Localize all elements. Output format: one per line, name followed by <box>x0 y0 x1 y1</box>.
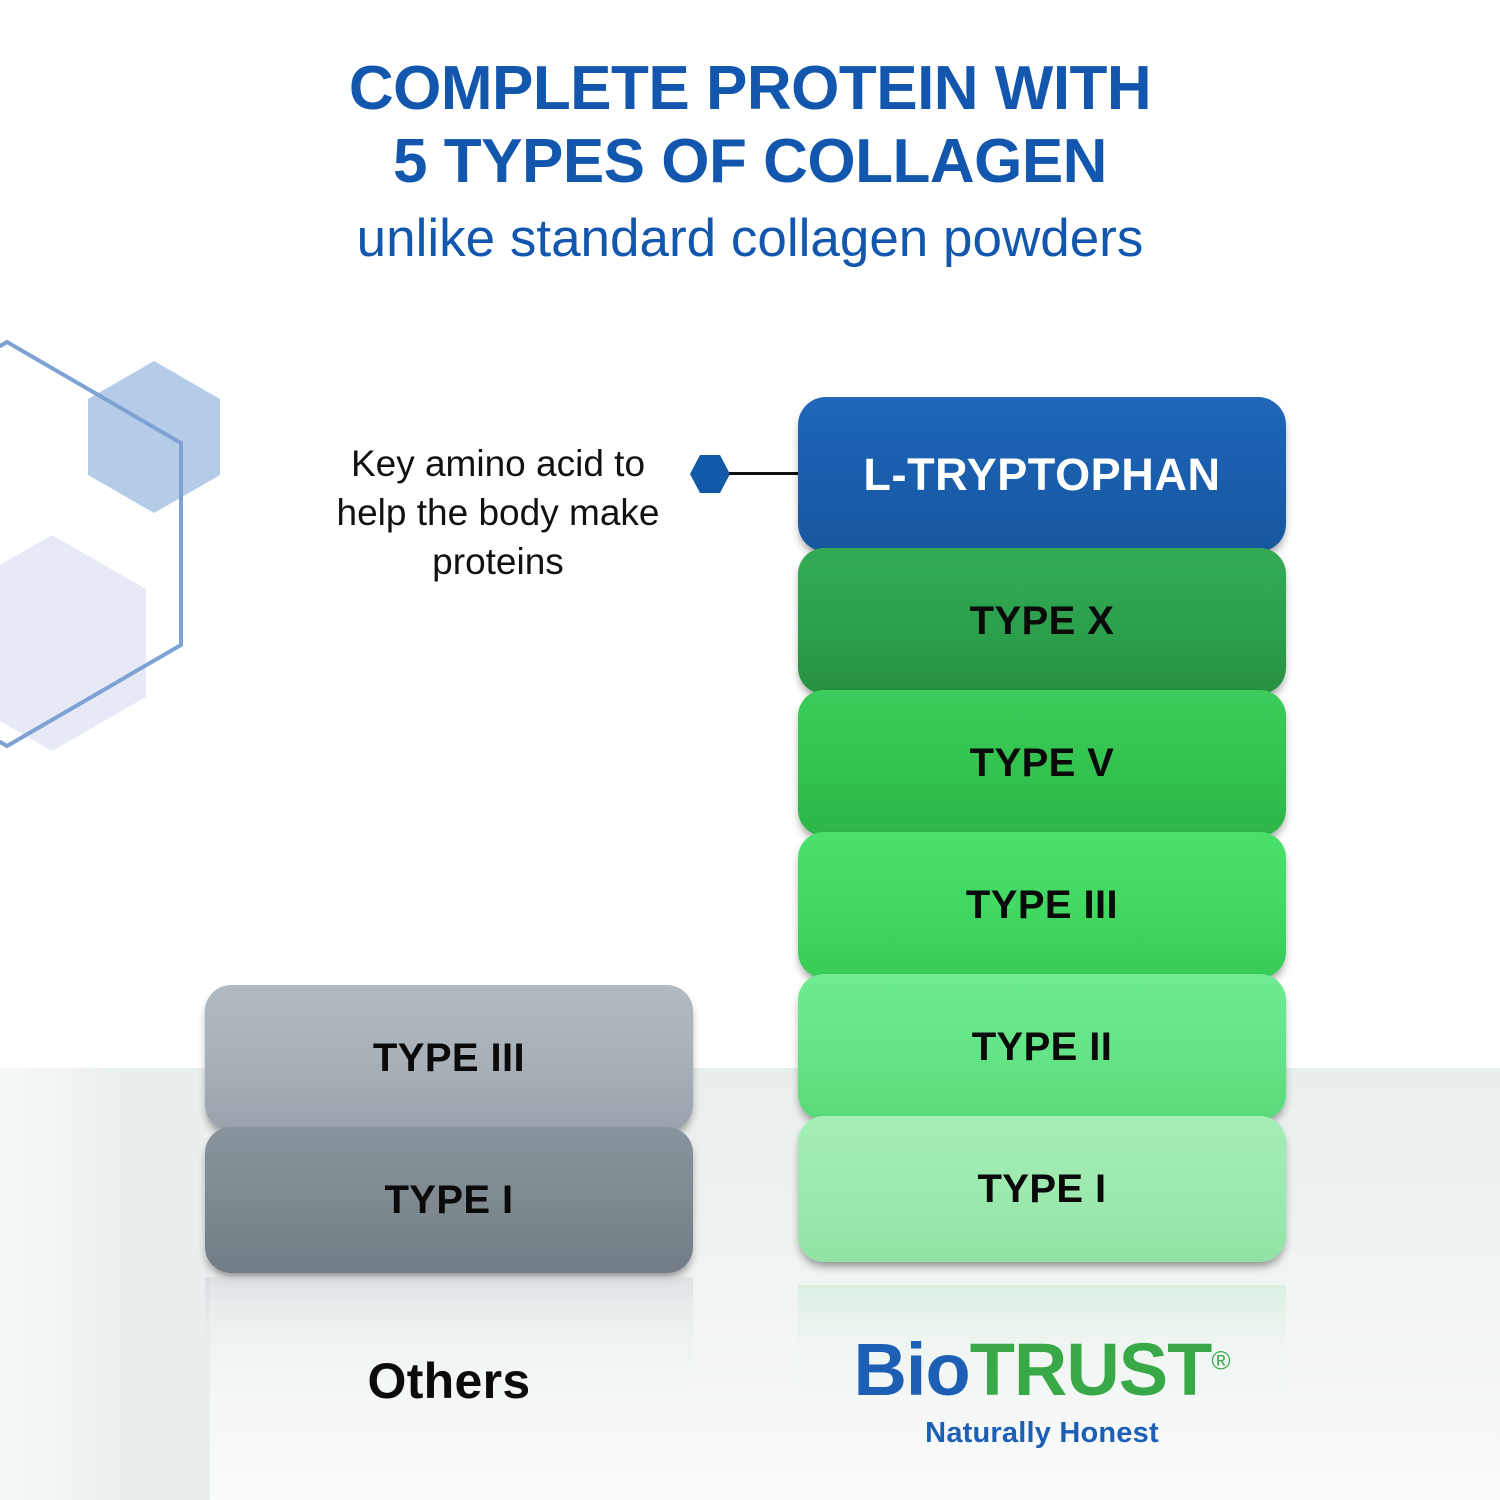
bar-label: L-TRYPTOPHAN <box>863 452 1220 497</box>
bar-label: TYPE V <box>970 743 1115 783</box>
bar-type-v[interactable]: TYPE V <box>798 690 1286 836</box>
page-title: COMPLETE PROTEIN WITH 5 TYPES OF COLLAGE… <box>0 52 1500 269</box>
bar-label: TYPE X <box>970 601 1115 641</box>
hexagon-medium-fill <box>88 361 220 513</box>
bar-label: TYPE III <box>373 1038 525 1078</box>
callout-text: Key amino acid to help the body make pro… <box>318 440 678 586</box>
logo-trust-text: TRUST <box>970 1328 1212 1411</box>
bar-label: TYPE I <box>977 1169 1106 1209</box>
bar-type-ii[interactable]: TYPE II <box>798 974 1286 1120</box>
bar-label: TYPE II <box>972 1027 1113 1067</box>
hexagon-cluster-svg <box>0 330 290 750</box>
others-bar-type-iii[interactable]: TYPE III <box>205 985 693 1131</box>
bar-type-x[interactable]: TYPE X <box>798 548 1286 694</box>
floor-left-fade <box>0 1068 210 1500</box>
bar-label: TYPE III <box>966 885 1118 925</box>
registered-mark-icon: ® <box>1211 1345 1230 1375</box>
callout-connector-line <box>729 472 803 475</box>
others-bar-type-i[interactable]: TYPE I <box>205 1127 693 1273</box>
bar-type-iii[interactable]: TYPE III <box>798 832 1286 978</box>
decorative-hexagons <box>0 330 290 750</box>
logo-wordmark: BioTRUST® <box>853 1333 1230 1407</box>
logo-bio-text: Bio <box>853 1328 969 1411</box>
biotrust-logo: BioTRUST® Naturally Honest <box>798 1333 1286 1450</box>
headline-line-1: COMPLETE PROTEIN WITH <box>0 52 1500 125</box>
logo-tagline: Naturally Honest <box>798 1417 1286 1450</box>
bar-label: TYPE I <box>384 1180 513 1220</box>
hexagon-light-fill <box>0 535 146 750</box>
hexagon-bullet-icon <box>688 452 732 496</box>
headline-subtitle: unlike standard collagen powders <box>0 210 1500 268</box>
bar-l-tryptophan[interactable]: L-TRYPTOPHAN <box>798 397 1286 552</box>
bar-type-i[interactable]: TYPE I <box>798 1116 1286 1262</box>
biotrust-collagen-stack: L-TRYPTOPHAN TYPE X TYPE V TYPE III TYPE… <box>798 397 1286 1258</box>
others-label: Others <box>205 1352 693 1410</box>
others-collagen-stack: TYPE III TYPE I <box>205 985 693 1269</box>
headline-line-2: 5 TYPES OF COLLAGEN <box>0 125 1500 198</box>
